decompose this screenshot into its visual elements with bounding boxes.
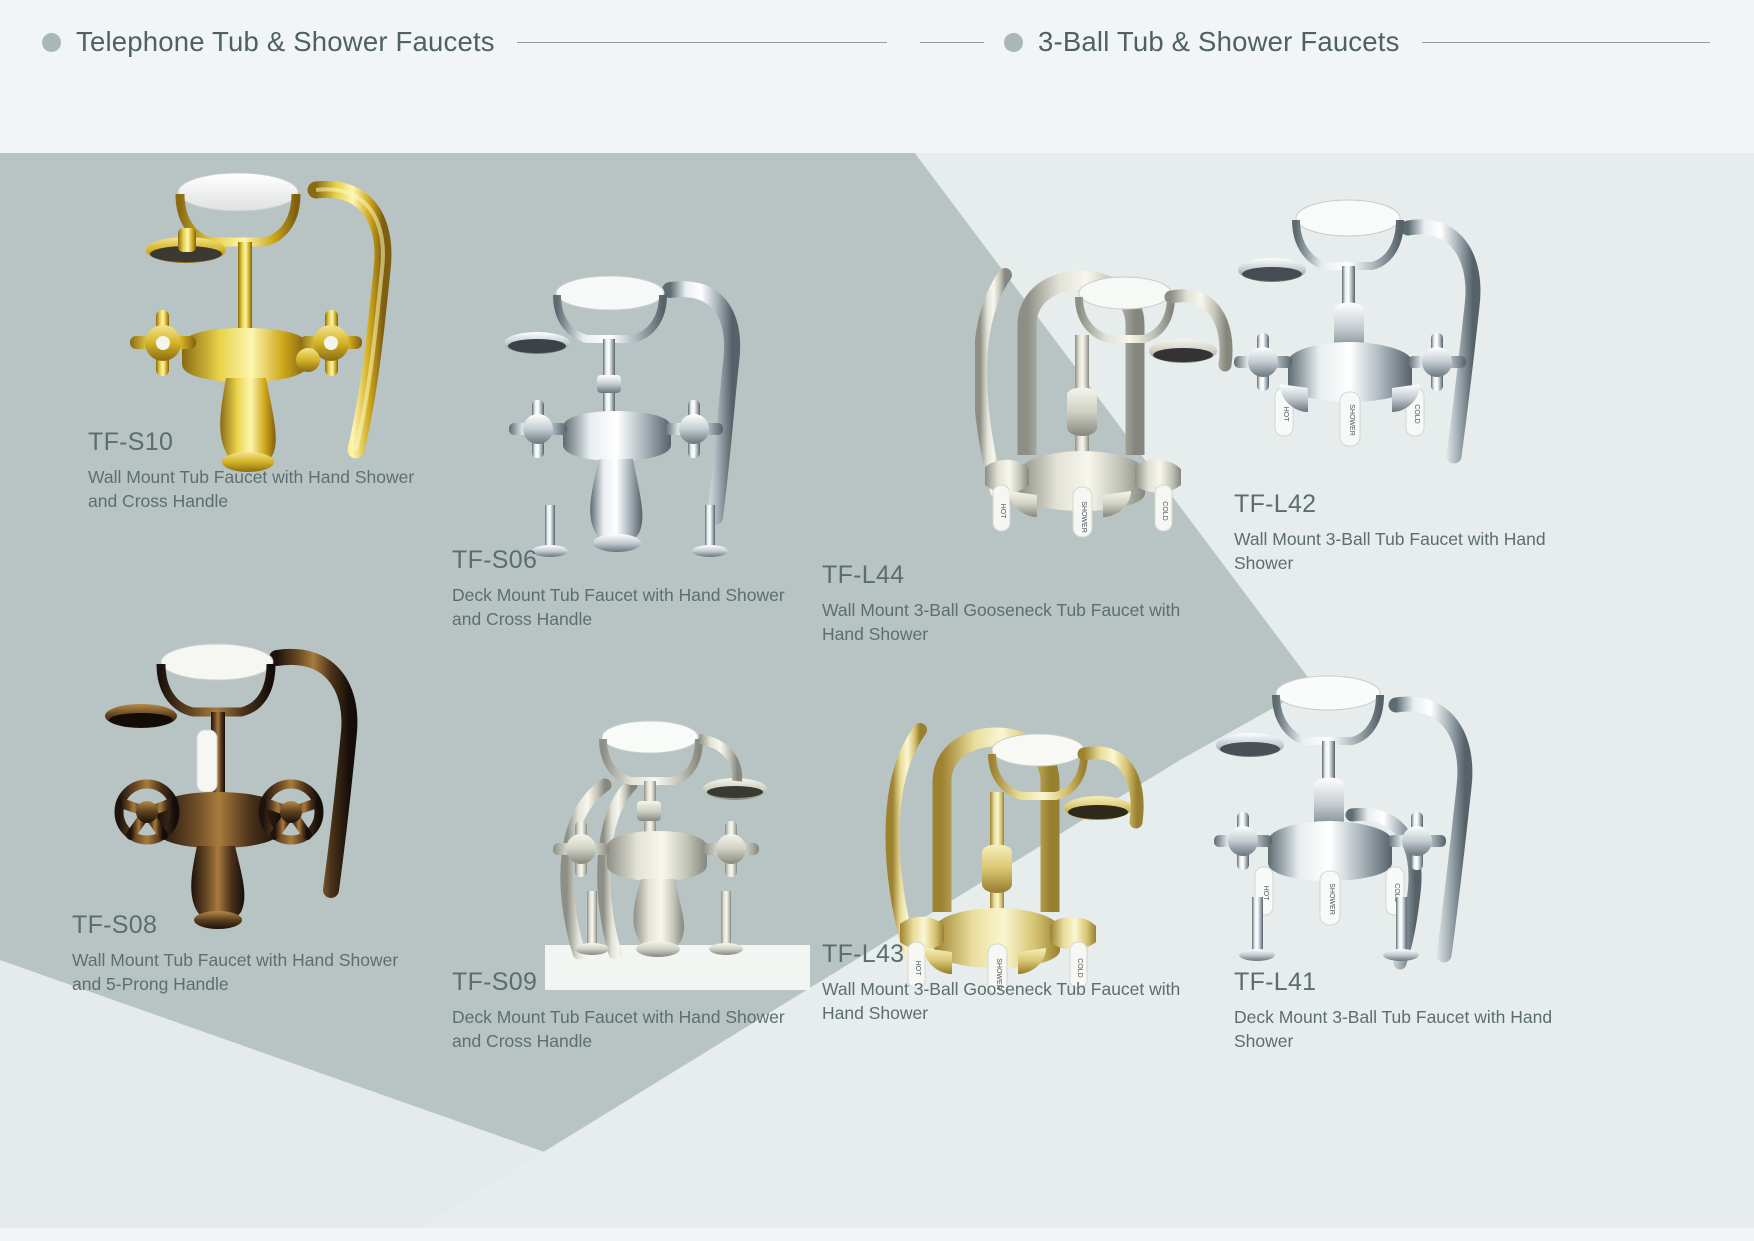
product-sku: TF-S06	[452, 546, 812, 575]
product-description: Deck Mount Tub Faucet with Hand Shower a…	[452, 584, 812, 632]
product-sku: TF-S10	[88, 428, 448, 457]
product-caption-tf-s06: TF-S06 Deck Mount Tub Faucet with Hand S…	[452, 546, 812, 632]
product-description: Deck Mount Tub Faucet with Hand Shower a…	[452, 1006, 812, 1054]
header-rule	[1422, 42, 1710, 43]
handle-label-shower: SHOWER	[1080, 501, 1087, 533]
product-image-tf-l42: HOT SHOWER COLD	[1230, 170, 1520, 500]
product-caption-tf-l43: TF-L43 Wall Mount 3-Ball Gooseneck Tub F…	[822, 940, 1222, 1026]
product-caption-tf-s10: TF-S10 Wall Mount Tub Faucet with Hand S…	[88, 428, 448, 514]
bullet-dot-icon	[42, 33, 61, 52]
product-image-tf-s09	[545, 705, 810, 1000]
svg-text:HOT: HOT	[1262, 886, 1269, 902]
product-sku: TF-S08	[72, 911, 432, 940]
product-description: Wall Mount 3-Ball Gooseneck Tub Faucet w…	[822, 978, 1222, 1026]
product-description: Deck Mount 3-Ball Tub Faucet with Hand S…	[1234, 1006, 1594, 1054]
product-caption-tf-s09: TF-S09 Deck Mount Tub Faucet with Hand S…	[452, 968, 812, 1054]
product-image-tf-s06	[505, 255, 780, 585]
product-description: Wall Mount Tub Faucet with Hand Shower a…	[88, 466, 448, 514]
product-caption-tf-l42: TF-L42 Wall Mount 3-Ball Tub Faucet with…	[1234, 490, 1594, 576]
header-rule	[517, 42, 887, 43]
product-image-tf-s08	[105, 620, 395, 950]
product-description: Wall Mount Tub Faucet with Hand Shower a…	[72, 949, 432, 997]
product-sku: TF-L42	[1234, 490, 1594, 519]
product-sku: TF-L43	[822, 940, 1222, 969]
product-image-tf-l41: HOT SHOWER COLD	[1200, 645, 1500, 995]
header-rule-lead	[920, 42, 984, 43]
handle-label-hot: HOT	[999, 504, 1006, 520]
svg-text:HOT: HOT	[1282, 407, 1289, 423]
svg-text:SHOWER: SHOWER	[1348, 404, 1355, 436]
svg-text:COLD: COLD	[1413, 404, 1420, 423]
section-header-threeball: 3-Ball Tub & Shower Faucets	[920, 26, 1710, 58]
catalog-page: Telephone Tub & Shower Faucets 3-Ball Tu…	[0, 0, 1754, 1241]
product-description: Wall Mount 3-Ball Tub Faucet with Hand S…	[1234, 528, 1594, 576]
section-header-band: Telephone Tub & Shower Faucets 3-Ball Tu…	[0, 0, 1754, 153]
handle-label-cold: COLD	[1161, 501, 1168, 520]
product-caption-tf-l41: TF-L41 Deck Mount 3-Ball Tub Faucet with…	[1234, 968, 1594, 1054]
section-title-threeball: 3-Ball Tub & Shower Faucets	[1038, 26, 1400, 58]
bullet-dot-icon	[1004, 33, 1023, 52]
section-title-telephone: Telephone Tub & Shower Faucets	[76, 26, 495, 58]
product-caption-tf-s08: TF-S08 Wall Mount Tub Faucet with Hand S…	[72, 911, 432, 997]
product-sku: TF-L41	[1234, 968, 1594, 997]
product-description: Wall Mount 3-Ball Gooseneck Tub Faucet w…	[822, 599, 1222, 647]
svg-text:SHOWER: SHOWER	[1328, 883, 1335, 915]
product-sku: TF-L44	[822, 561, 1222, 590]
product-caption-tf-l44: TF-L44 Wall Mount 3-Ball Gooseneck Tub F…	[822, 561, 1222, 647]
footer-band	[0, 1228, 1754, 1241]
product-sku: TF-S09	[452, 968, 812, 997]
section-header-telephone: Telephone Tub & Shower Faucets	[42, 26, 887, 58]
